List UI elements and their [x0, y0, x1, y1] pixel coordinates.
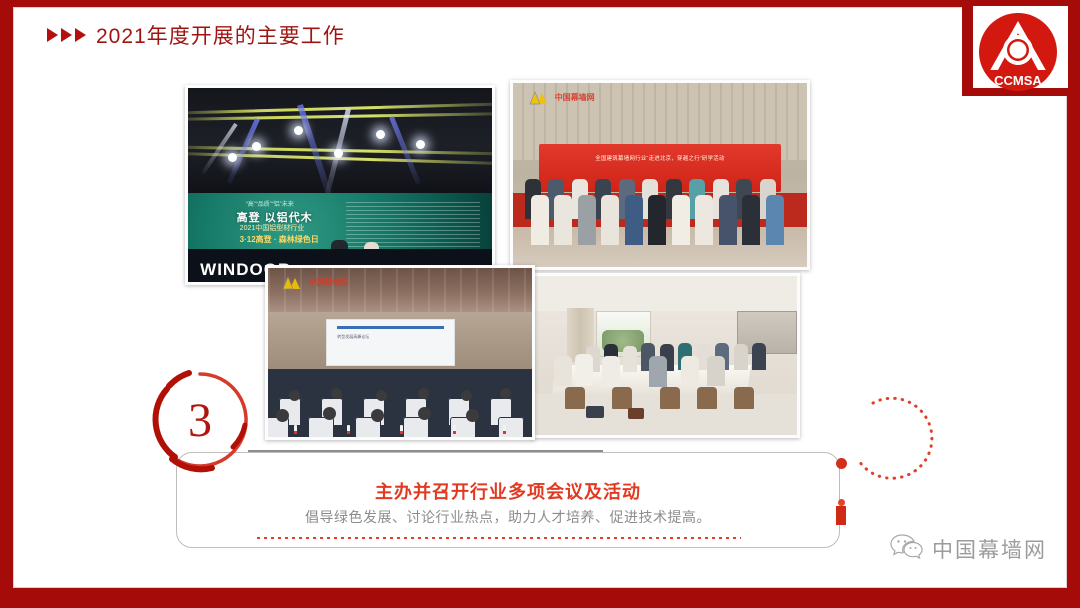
stage-ceiling	[188, 88, 492, 193]
triangle-right-icon	[75, 28, 86, 42]
dotted-arc-decoration	[855, 395, 943, 483]
accent-pin-dot	[838, 499, 845, 506]
triangle-right-icon	[61, 28, 72, 42]
presentation-screen: 转型发展高峰论坛	[326, 319, 455, 367]
backdrop-line2: 2021中国铝型材行业	[240, 223, 305, 233]
content-subtitle: 倡导绿色发展、讨论行业热点，助力人才培养、促进技术提高。	[176, 507, 840, 527]
svg-text:CCMSA: CCMSA	[994, 73, 1042, 88]
photo-conference-hall: 转型发展高峰论坛	[265, 265, 535, 440]
hall-seating-floor	[268, 369, 532, 437]
photo-windoor-stage: “高”“品质”“铝”未来 高登 以铝代木 2021中国铝型材行业 3·12高登 …	[185, 85, 495, 285]
dotted-underline	[255, 537, 741, 539]
step-number-badge: 3	[145, 365, 255, 475]
photo-watermark: 中国幕墙网	[281, 275, 348, 290]
photo-group-beijing: 全国建筑幕墙网行业“走进北京，穿越之行”研学活动	[510, 80, 810, 270]
screen-title: 转型发展高峰论坛	[337, 334, 369, 341]
content-heading: 主办并召开行业多项会议及活动	[176, 478, 840, 504]
backdrop-quote: “高”“品质”“铝”未来	[246, 199, 294, 208]
accent-dot-large	[836, 458, 847, 469]
section-divider	[248, 450, 603, 452]
accent-square	[836, 506, 846, 525]
banner-line-1: 全国建筑幕墙网行业“走进北京，穿越之行”研学活动	[554, 154, 766, 164]
slide-root: 2021年度开展的主要工作 CCMSA	[0, 0, 1080, 608]
page-title: 2021年度开展的主要工作	[96, 20, 345, 50]
meeting-ceiling	[533, 276, 797, 311]
triangle-right-icon	[47, 28, 58, 42]
footer-watermark-text: 中国幕墙网	[932, 534, 1047, 564]
footer-watermark: 中国幕墙网	[890, 533, 1047, 564]
slide-header: 2021年度开展的主要工作	[47, 20, 345, 50]
arrow-group	[47, 28, 86, 42]
backdrop-line3: 3·12高登 · 森林绿色日	[240, 234, 319, 245]
wall-logo-icon	[528, 90, 552, 105]
wall-logo-icon	[281, 275, 305, 290]
step-number: 3	[145, 365, 255, 475]
photo-watermark: 中国幕墙网	[528, 90, 595, 105]
floor-bag-2	[628, 408, 644, 419]
watermark-text: 中国幕墙网	[555, 92, 595, 103]
watermark-text: 中国幕墙网	[308, 277, 348, 288]
floor-bag-1	[586, 406, 604, 418]
wechat-icon	[890, 533, 924, 564]
photo-roundtable-meeting	[530, 273, 800, 438]
ccmsa-logo: CCMSA	[978, 12, 1058, 92]
group-row-front	[513, 193, 807, 245]
